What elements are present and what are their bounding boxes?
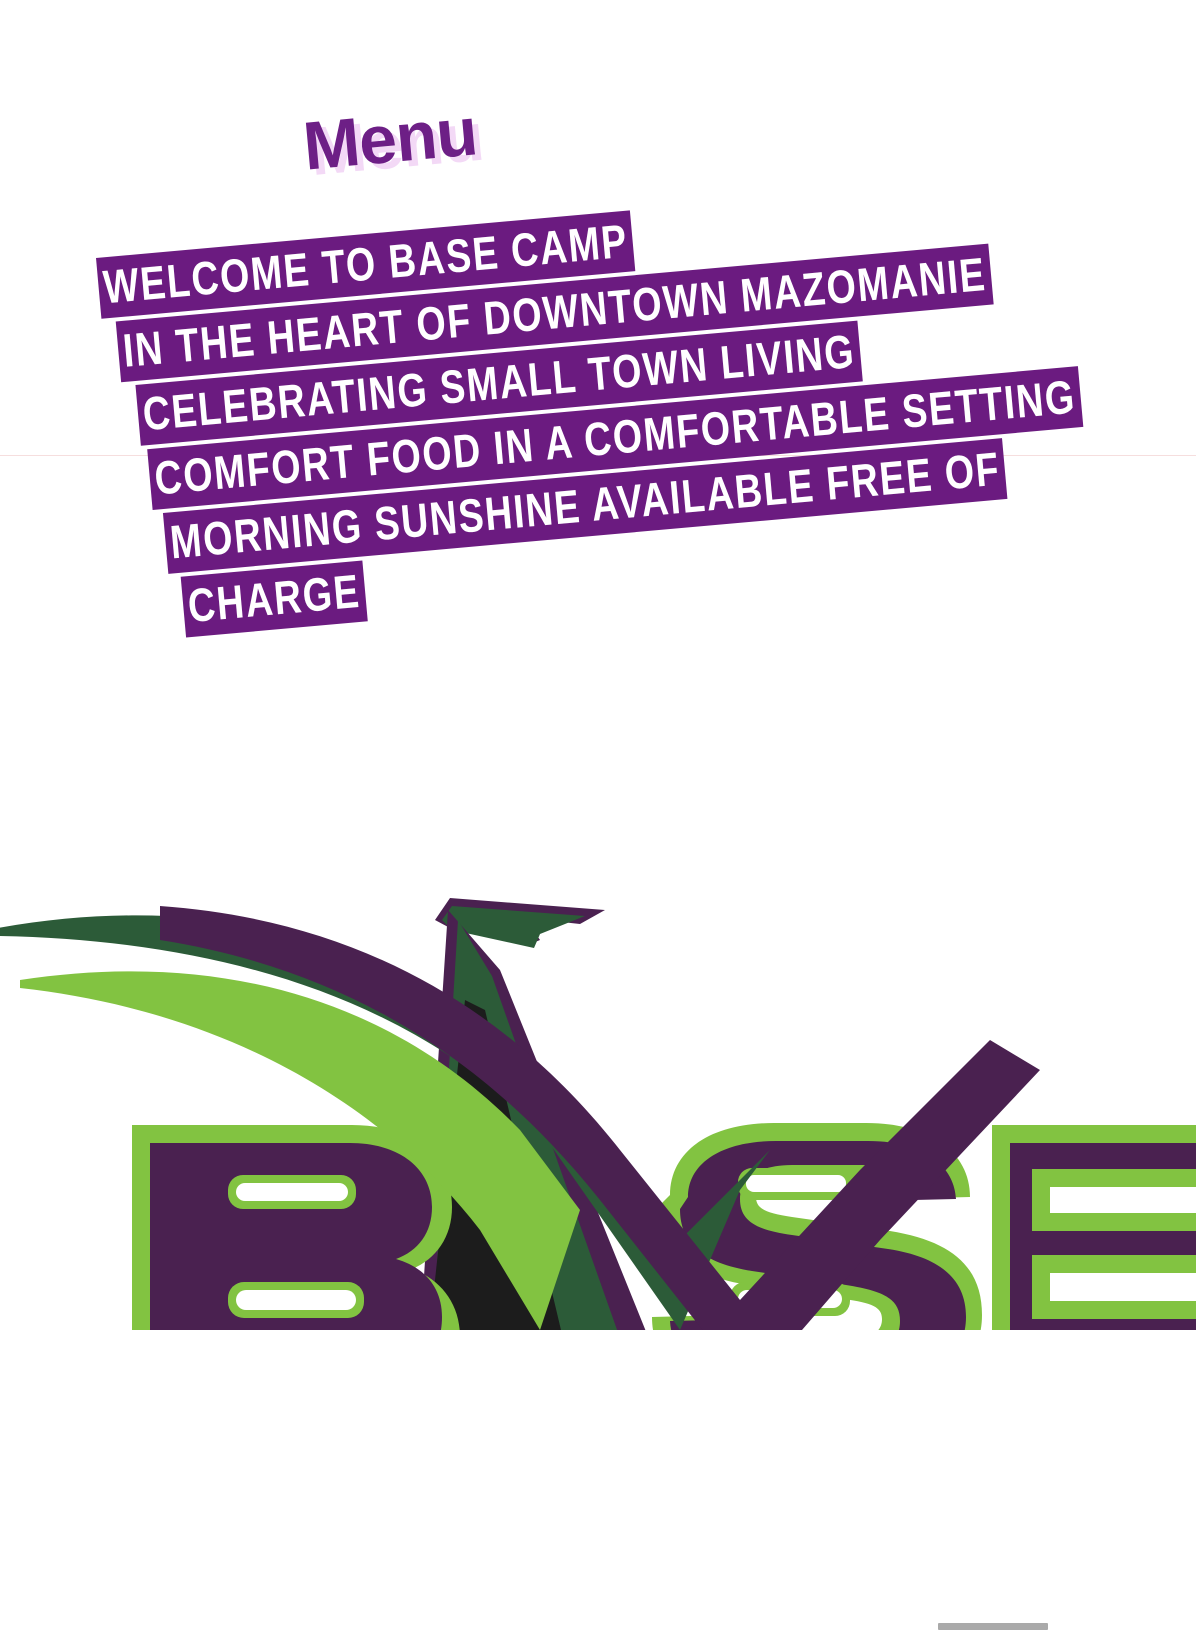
base-camp-logo: [0, 770, 1196, 1330]
welcome-line-text: CHARGE: [181, 560, 368, 637]
welcome-paragraph: WELCOME TO BASE CAMP IN THE HEART OF DOW…: [96, 169, 1127, 646]
logo-letter-e: [992, 1125, 1196, 1330]
letter-b-counter-lower-inner: [236, 1290, 356, 1310]
page-canvas: Menu WELCOME TO BASE CAMP IN THE HEART O…: [0, 0, 1196, 1630]
logo-artwork: [0, 770, 1196, 1330]
letter-b-counter-upper-inner: [236, 1183, 348, 1201]
letter-s-bar-upper-inner: [746, 1175, 846, 1192]
logo-letter-b: [132, 1125, 460, 1330]
horizontal-scrollbar-thumb[interactable]: [938, 1623, 1048, 1630]
page-title: Menu: [300, 92, 480, 185]
